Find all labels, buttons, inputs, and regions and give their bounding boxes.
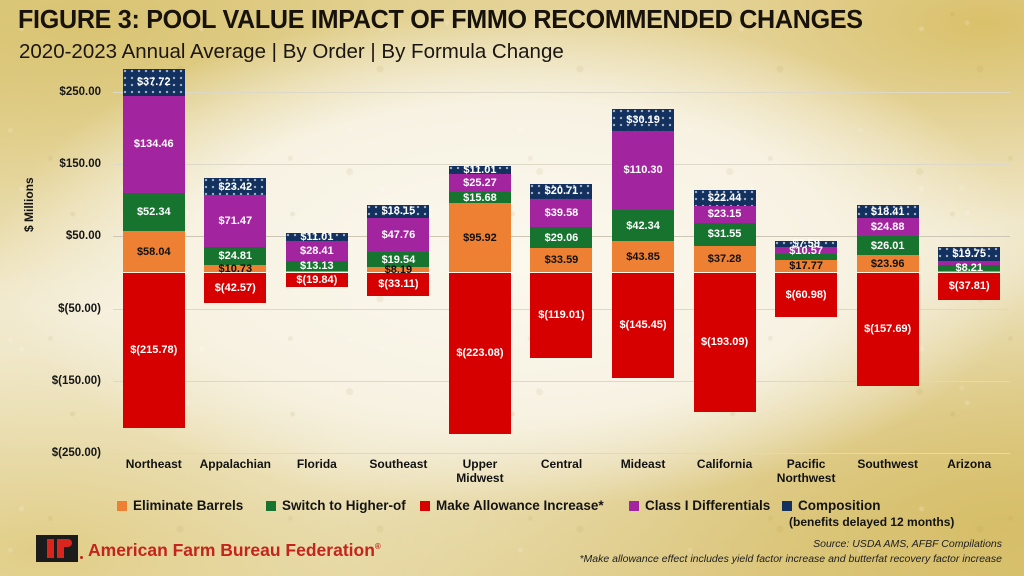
bar-segment-makeallow[interactable]: $(60.98) — [775, 273, 837, 317]
bar-segment-higher[interactable]: $31.55 — [694, 223, 756, 246]
logo-dot-icon — [80, 556, 83, 559]
stacked-bar[interactable]: $8.19$19.54$47.76$18.15$(33.11) — [367, 92, 429, 453]
y-axis-tick-label: $150.00 — [6, 158, 101, 170]
bar-group: $33.59$29.06$39.58$20.71$(119.01)Central — [521, 92, 603, 453]
bar-segment-value: $19.54 — [382, 254, 416, 266]
bar-segment-value: $28.41 — [300, 245, 334, 257]
bar-group: $13.13$28.41$11.01$(19.84)Florida — [276, 92, 358, 453]
bar-group: $23.96$26.01$24.88$18.41$(157.69)Southwe… — [847, 92, 929, 453]
bar-segment-compose[interactable]: $18.41 — [857, 205, 919, 218]
bar-segment-value: $8.21 — [955, 262, 983, 274]
x-axis-label: California — [684, 457, 766, 471]
bar-segment-makeallow[interactable]: $(37.81) — [938, 273, 1000, 300]
bar-group: $8.21$19.75$(37.81)Arizona — [928, 92, 1010, 453]
legend-note: (benefits delayed 12 months) — [789, 515, 954, 529]
bar-segment-makeallow[interactable]: $(215.78) — [123, 273, 185, 429]
stacked-bar[interactable]: $43.85$42.34$110.30$30.19$(145.45) — [612, 92, 674, 453]
bar-segment-classi[interactable]: $23.15 — [694, 206, 756, 223]
bar-segment-value: $24.81 — [218, 250, 252, 262]
legend-item-classi[interactable]: Class I Differentials — [629, 498, 770, 513]
bar-segment-value: $(223.08) — [456, 347, 503, 359]
bar-segment-value: $58.04 — [137, 246, 171, 258]
bar-group: $43.85$42.34$110.30$30.19$(145.45)Mideas… — [602, 92, 684, 453]
afbf-logo-icon — [36, 535, 78, 562]
bar-segment-higher[interactable]: $19.54 — [367, 252, 429, 266]
stacked-bar[interactable]: $23.96$26.01$24.88$18.41$(157.69) — [857, 92, 919, 453]
bar-segment-barrels[interactable]: $10.73 — [204, 265, 266, 273]
bar-segment-value: $(37.81) — [949, 280, 990, 292]
bar-segment-value: $(215.78) — [130, 344, 177, 356]
gridline — [113, 453, 1010, 454]
bar-group: $95.92$15.68$25.27$11.01$(223.08)UpperMi… — [439, 92, 521, 453]
bar-segment-value: $13.13 — [300, 260, 334, 272]
bar-segment-makeallow[interactable]: $(42.57) — [204, 273, 266, 304]
bar-segment-value: $19.75 — [952, 248, 986, 260]
stacked-bar[interactable]: $95.92$15.68$25.27$11.01$(223.08) — [449, 92, 511, 453]
stacked-bar[interactable]: $8.21$19.75$(37.81) — [938, 92, 1000, 453]
bar-segment-compose[interactable]: $23.42 — [204, 178, 266, 195]
bar-segment-barrels[interactable]: $37.28 — [694, 246, 756, 273]
bar-segment-classi[interactable]: $71.47 — [204, 195, 266, 247]
bar-segment-value: $(33.11) — [378, 278, 418, 290]
bar-segment-value: $17.77 — [789, 260, 823, 272]
legend-item-compose[interactable]: Composition — [782, 498, 881, 513]
bar-segment-value: $23.15 — [708, 208, 742, 220]
bar-segment-value: $37.72 — [137, 76, 171, 88]
bar-segment-value: $23.42 — [218, 181, 252, 193]
x-axis-label: Appalachian — [195, 457, 277, 471]
bar-segment-value: $11.01 — [463, 164, 496, 176]
bar-segment-higher[interactable]: $52.34 — [123, 193, 185, 231]
bar-segment-value: $95.92 — [463, 232, 497, 244]
bar-group: $10.73$24.81$71.47$23.42$(42.57)Appalach… — [195, 92, 277, 453]
bar-segment-classi[interactable]: $134.46 — [123, 96, 185, 193]
bar-segment-classi[interactable]: $28.41 — [286, 241, 348, 262]
stacked-bar[interactable]: $33.59$29.06$39.58$20.71$(119.01) — [530, 92, 592, 453]
bar-segment-compose[interactable]: $30.19 — [612, 109, 674, 131]
legend-item-makeallow[interactable]: Make Allowance Increase* — [420, 498, 604, 513]
bar-segment-value: $23.96 — [871, 258, 905, 270]
bar-segment-value: $11.01 — [300, 231, 333, 243]
slide-background: FIGURE 3: POOL VALUE IMPACT OF FMMO RECO… — [0, 0, 1024, 576]
bar-segment-barrels[interactable]: $17.77 — [775, 260, 837, 273]
legend-item-higher[interactable]: Switch to Higher-of — [266, 498, 406, 513]
x-axis-label: Mideast — [602, 457, 684, 471]
bar-segment-value: $71.47 — [218, 215, 252, 227]
legend-swatch-barrels-icon — [117, 501, 127, 511]
bar-segment-value: $134.46 — [134, 138, 174, 150]
bar-segment-makeallow[interactable]: $(193.09) — [694, 273, 756, 412]
legend-swatch-makeallow-icon — [420, 501, 430, 511]
y-axis-tick-label: $(50.00) — [6, 303, 101, 315]
x-axis-label: PacificNorthwest — [765, 457, 847, 485]
legend-swatch-higher-icon — [266, 501, 276, 511]
page-title: FIGURE 3: POOL VALUE IMPACT OF FMMO RECO… — [18, 6, 993, 35]
page-subtitle: 2020-2023 Annual Average | By Order | By… — [19, 40, 1009, 64]
bar-segment-value: $47.76 — [382, 229, 416, 241]
bar-segment-value: $(145.45) — [619, 319, 666, 331]
bar-segment-value: $18.41 — [871, 206, 905, 218]
bar-segment-value: $18.15 — [382, 205, 416, 217]
bar-segment-value: $(42.57) — [215, 282, 256, 294]
legend-label: Eliminate Barrels — [133, 498, 243, 513]
bar-segment-value: $(19.84) — [296, 274, 337, 286]
bar-segment-value: $20.71 — [545, 185, 579, 197]
bar-segment-barrels[interactable]: $33.59 — [530, 248, 592, 272]
bar-segment-value: $110.30 — [623, 164, 662, 176]
bar-segment-value: $(193.09) — [701, 336, 748, 348]
stacked-bar[interactable]: $37.28$31.55$23.15$22.44$(193.09) — [694, 92, 756, 453]
legend-label: Composition — [798, 498, 881, 513]
bar-group: $58.04$52.34$134.46$37.72$(215.78)Northe… — [113, 92, 195, 453]
bar-segment-value: $42.34 — [626, 220, 660, 232]
x-axis-label: Southeast — [358, 457, 440, 471]
bar-segment-value: $31.55 — [708, 228, 742, 240]
bar-segment-compose[interactable]: $11.01 — [286, 233, 348, 241]
organization-name: American Farm Bureau Federation® — [88, 540, 381, 561]
bar-segment-value: $22.44 — [708, 192, 742, 204]
bar-group: $8.19$19.54$47.76$18.15$(33.11)Southeast — [358, 92, 440, 453]
y-axis-tick-labels: $250.00$150.00$50.00$(50.00)$(150.00)$(2… — [0, 92, 113, 453]
bar-segment-barrels[interactable]: $58.04 — [123, 231, 185, 273]
bar-segment-value: $52.34 — [137, 206, 171, 218]
bar-segment-makeallow[interactable]: $(119.01) — [530, 273, 592, 359]
bar-segment-value: $33.59 — [545, 254, 579, 266]
bar-segment-value: $(60.98) — [786, 289, 827, 301]
bar-segment-makeallow[interactable]: $(223.08) — [449, 273, 511, 434]
bar-segment-higher[interactable]: $13.13 — [286, 261, 348, 270]
bar-segment-barrels[interactable]: $43.85 — [612, 241, 674, 273]
bar-segment-makeallow[interactable]: $(157.69) — [857, 273, 919, 387]
bar-segment-barrels[interactable]: $95.92 — [449, 203, 511, 272]
bar-segment-value: $(157.69) — [864, 323, 911, 335]
bar-segment-higher[interactable]: $8.21 — [938, 265, 1000, 271]
legend-item-barrels[interactable]: Eliminate Barrels — [117, 498, 243, 513]
x-axis-label: Central — [521, 457, 603, 471]
bar-segment-makeallow[interactable]: $(33.11) — [367, 273, 429, 297]
bar-segment-value: $29.06 — [545, 232, 579, 244]
bar-segment-makeallow[interactable]: $(145.45) — [612, 273, 674, 378]
bar-segment-compose[interactable]: $22.44 — [694, 190, 756, 206]
x-axis-label: Arizona — [928, 457, 1010, 471]
x-axis-label: Southwest — [847, 457, 929, 471]
bar-segment-classi[interactable]: $47.76 — [367, 218, 429, 252]
stacked-bar[interactable]: $10.73$24.81$71.47$23.42$(42.57) — [204, 92, 266, 453]
legend-swatch-compose-icon — [782, 501, 792, 511]
bar-segment-value: $15.68 — [463, 192, 497, 204]
source-text: Source: USDA AMS, AFBF Compilations — [813, 538, 1002, 550]
bar-segment-value: $39.58 — [545, 207, 579, 219]
bar-segment-value: $25.27 — [463, 177, 497, 189]
y-axis-tick-label: $(250.00) — [6, 447, 101, 459]
bar-segment-classi[interactable]: $25.27 — [449, 174, 511, 192]
bar-segment-higher[interactable]: $15.68 — [449, 192, 511, 203]
bar-segment-value: $10.73 — [218, 263, 252, 275]
chart-legend: (benefits delayed 12 months) Eliminate B… — [113, 498, 1013, 532]
legend-label: Class I Differentials — [645, 498, 770, 513]
bar-segment-makeallow[interactable]: $(19.84) — [286, 273, 348, 287]
bar-segment-higher[interactable]: $29.06 — [530, 227, 592, 248]
bar-segment-classi[interactable]: $24.88 — [857, 218, 919, 236]
bar-segment-classi[interactable]: $110.30 — [612, 131, 674, 211]
bar-segment-compose[interactable]: $18.15 — [367, 205, 429, 218]
legend-label: Switch to Higher-of — [282, 498, 406, 513]
bar-segment-value: $26.01 — [871, 240, 905, 252]
legend-swatch-classi-icon — [629, 501, 639, 511]
bar-segment-compose[interactable]: $37.72 — [123, 69, 185, 96]
bar-group: $17.77$10.57$7.58$(60.98)PacificNorthwes… — [765, 92, 847, 453]
x-axis-label: Florida — [276, 457, 358, 471]
stacked-bar[interactable]: $17.77$10.57$7.58$(60.98) — [775, 92, 837, 453]
bar-segment-value: $(119.01) — [538, 309, 584, 321]
bar-segment-compose[interactable]: $19.75 — [938, 247, 1000, 261]
bar-segment-higher[interactable]: $26.01 — [857, 236, 919, 255]
bar-segment-barrels[interactable]: $23.96 — [857, 255, 919, 272]
bar-segment-value: $43.85 — [626, 251, 660, 263]
y-axis-tick-label: $(150.00) — [6, 375, 101, 387]
x-axis-label: Northeast — [113, 457, 195, 471]
bar-segment-higher[interactable]: $42.34 — [612, 210, 674, 241]
stacked-bar[interactable]: $13.13$28.41$11.01$(19.84) — [286, 92, 348, 453]
bar-segment-compose[interactable]: $11.01 — [449, 166, 511, 174]
x-axis-label: UpperMidwest — [439, 457, 521, 485]
y-axis-tick-label: $50.00 — [6, 230, 101, 242]
stacked-bar[interactable]: $58.04$52.34$134.46$37.72$(215.78) — [123, 92, 185, 453]
y-axis-tick-label: $250.00 — [6, 86, 101, 98]
bar-segment-classi[interactable]: $39.58 — [530, 199, 592, 228]
bar-segment-value: $7.58 — [792, 238, 820, 250]
bar-segment-value: $30.19 — [626, 114, 660, 126]
bar-segment-compose[interactable]: $7.58 — [775, 241, 837, 246]
bar-segment-compose[interactable]: $20.71 — [530, 184, 592, 199]
bar-segment-value: $37.28 — [708, 253, 742, 265]
legend-label: Make Allowance Increase* — [436, 498, 604, 513]
bar-segment-value: $24.88 — [871, 221, 905, 233]
footnote-text: *Make allowance effect includes yield fa… — [579, 553, 1002, 565]
bar-group: $37.28$31.55$23.15$22.44$(193.09)Califor… — [684, 92, 766, 453]
chart-plot-area: $58.04$52.34$134.46$37.72$(215.78)Northe… — [113, 92, 1010, 453]
